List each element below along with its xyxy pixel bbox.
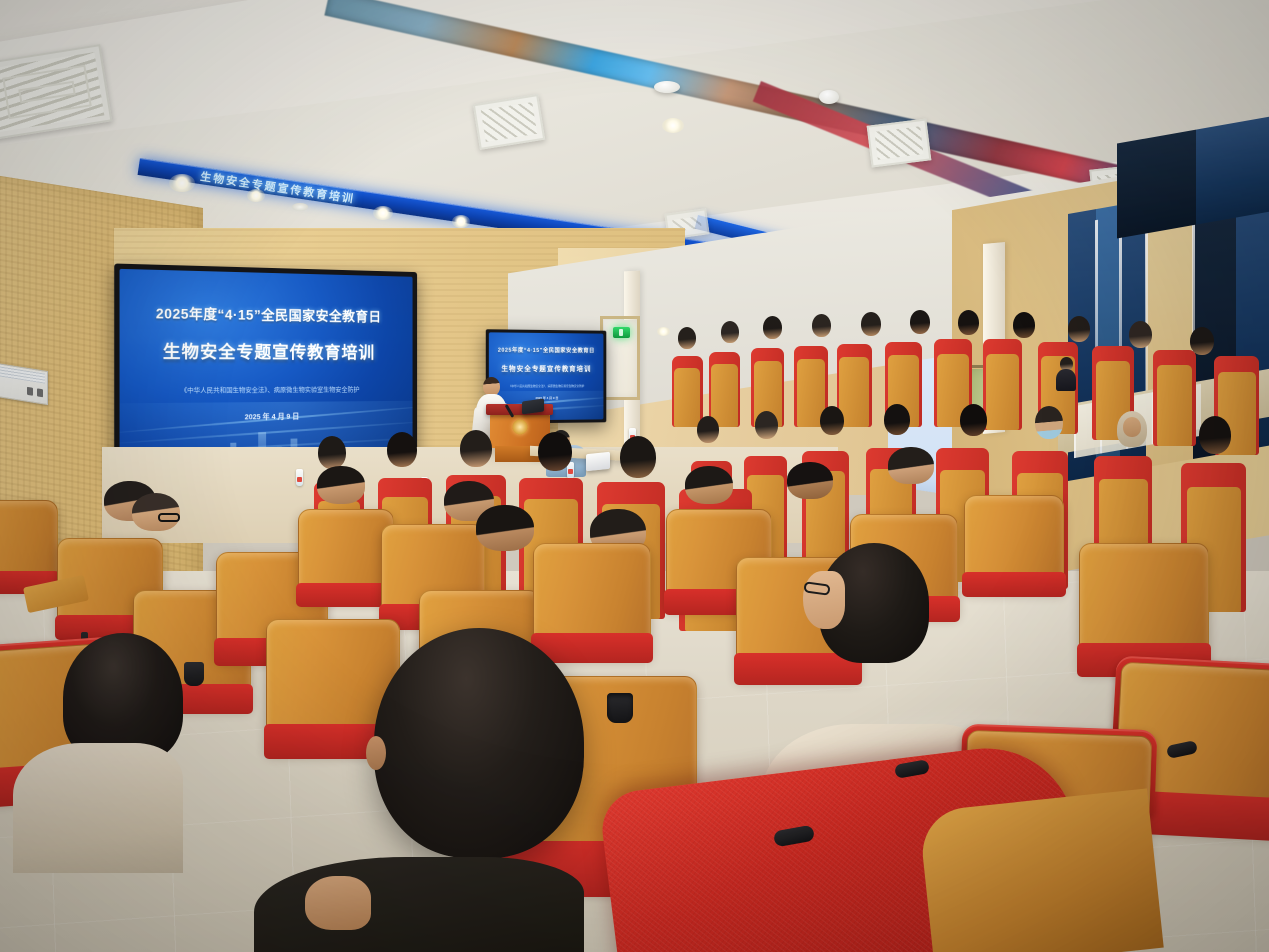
audience-member-r8 [1013,312,1035,338]
cup-holder-left [184,662,204,686]
right-foreground-face [803,571,845,629]
foreground-center-shoulder [254,857,584,952]
audience-member-r6 [910,310,930,334]
audience-member-right-foreground [819,543,929,663]
audience-member-m8 [1199,416,1231,454]
audience-member-r10 [1129,321,1152,348]
seat-right-4[interactable] [1079,543,1209,671]
slide-title-line2: 生物安全专题宣传教育培训 [120,336,413,363]
audience-member-l5 [620,436,656,478]
audience-member-m7-hijab [1117,411,1147,447]
cup-holder [607,693,633,723]
eyeglasses-icon [158,513,180,522]
lecture-hall-photo: 生物安全专题宣传教育培训 [0,0,1269,952]
seat-right-3[interactable] [964,495,1064,591]
air-diffuser-right [867,118,932,167]
slide-subtitle: 《中华人民共和国生物安全法》、病原微生物实验室生物安全防护 [120,383,413,393]
side-slide-title-line1: 2025年度“4·15”全民国家安全教育日 [489,346,603,355]
foreground-center-hand [305,876,371,930]
seat-wood-edge-foreground-right [919,788,1164,952]
smoke-detector-center [654,81,680,93]
ceiling-downlight-1 [169,174,195,192]
audience-member-m4 [884,404,910,435]
audience-member-l4 [538,432,572,471]
audience-member-right-1 [685,466,733,504]
audience-member-m6-masked [1035,406,1063,439]
near-left-glasses-head [132,493,180,531]
audience-member-l2 [387,432,417,467]
audience-member-near-left-glasses [132,493,180,531]
audience-member-l3 [460,430,492,467]
audience-member-near-left-2 [317,466,365,504]
audience-member-center-2 [476,505,534,551]
audience-member-m5 [960,404,987,436]
audience-member-r1 [678,327,696,349]
audience-member-l1 [318,436,346,469]
audience-member-r9 [1068,316,1090,342]
side-slide-title-line2: 生物安全专题宣传教育培训 [489,363,603,373]
audience-member-r2 [721,321,739,343]
exit-sign-icon [613,327,630,338]
ceiling-downlight-4 [452,215,470,228]
slide-title-line1: 2025年度“4·15”全民国家安全教育日 [120,301,413,326]
audience-member-right-2 [787,462,833,499]
water-bottle-aisle [296,469,303,486]
audience-member-r4 [812,314,831,337]
seat-left-1[interactable] [0,500,58,588]
sprinkler-head-left [292,203,308,211]
audience-member-right-3 [888,447,934,484]
longhair-left-garment [13,743,183,873]
audience-member-m3 [820,406,844,435]
audience-member-r3 [763,316,782,339]
audience-member-foreground-center [374,628,584,858]
ceiling-downlight-3 [373,206,393,220]
foreground-center-head [374,628,584,858]
audience-member-r11 [1190,327,1214,355]
audience-member-r7 [958,310,979,335]
audience-member-r5 [861,312,881,336]
